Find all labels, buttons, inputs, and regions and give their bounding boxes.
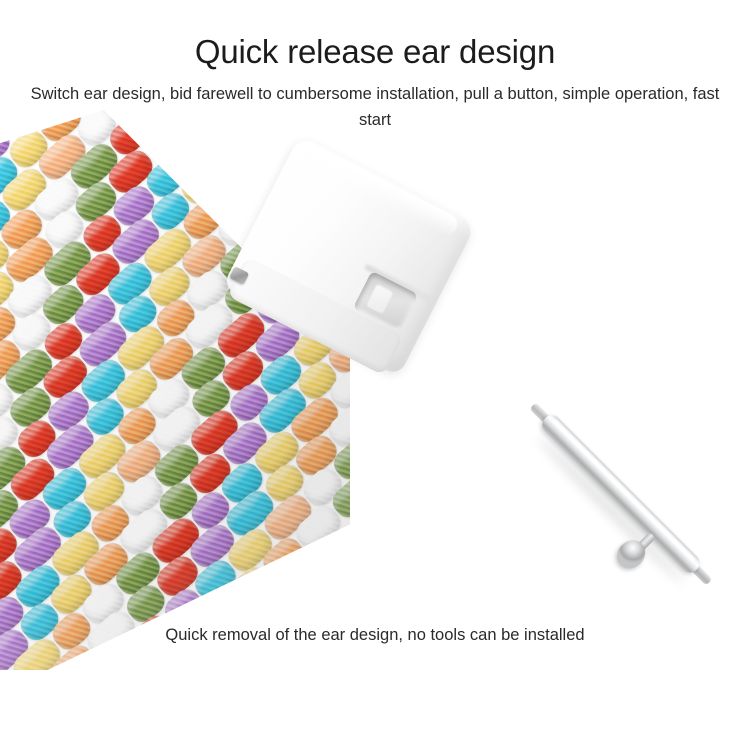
weave-strand [136,0,187,22]
weave-strand [21,705,69,750]
weave-strand [463,278,517,331]
weave-strand [174,0,225,26]
product-photo [0,150,750,620]
weave-strand [0,88,10,141]
weave-strand [0,668,26,721]
spring-bar [483,371,745,633]
weave-strand [89,683,137,731]
weave-strand [119,654,170,704]
weave-strand [50,709,107,750]
product-feature-image: Quick release ear design Switch ear desi… [0,0,750,750]
weave-strand [0,727,1,750]
spring-bar-shadow [534,433,688,587]
weave-strand [212,0,260,30]
weave-strand [13,672,64,722]
page-subtitle: Switch ear design, bid farewell to cumbe… [28,82,722,133]
weave-strand [0,701,31,749]
weave-strand [367,441,415,489]
weave-strand [506,320,554,368]
weave-strand [501,282,555,335]
weave-strand [362,403,416,456]
weave-strand [430,381,484,434]
footer-caption: Quick removal of the ear design, no tool… [0,626,750,645]
weave-strand [0,731,39,750]
weave-strand [13,743,67,750]
weave-strand [208,168,259,218]
weave-strand [84,644,138,697]
weave-strand [464,245,512,293]
weave-strand [210,127,264,180]
weave-strand [95,0,149,20]
weave-strand [51,676,102,726]
weave-strand [468,314,519,364]
weave-strand [536,292,587,342]
weave-strand [437,343,485,391]
weave-strand [499,244,556,299]
spring-bar-highlight [553,419,696,562]
weave-strand [242,0,293,4]
weave-strand [397,412,448,462]
weave-strand [466,347,523,402]
page-title: Quick release ear design [0,34,750,70]
